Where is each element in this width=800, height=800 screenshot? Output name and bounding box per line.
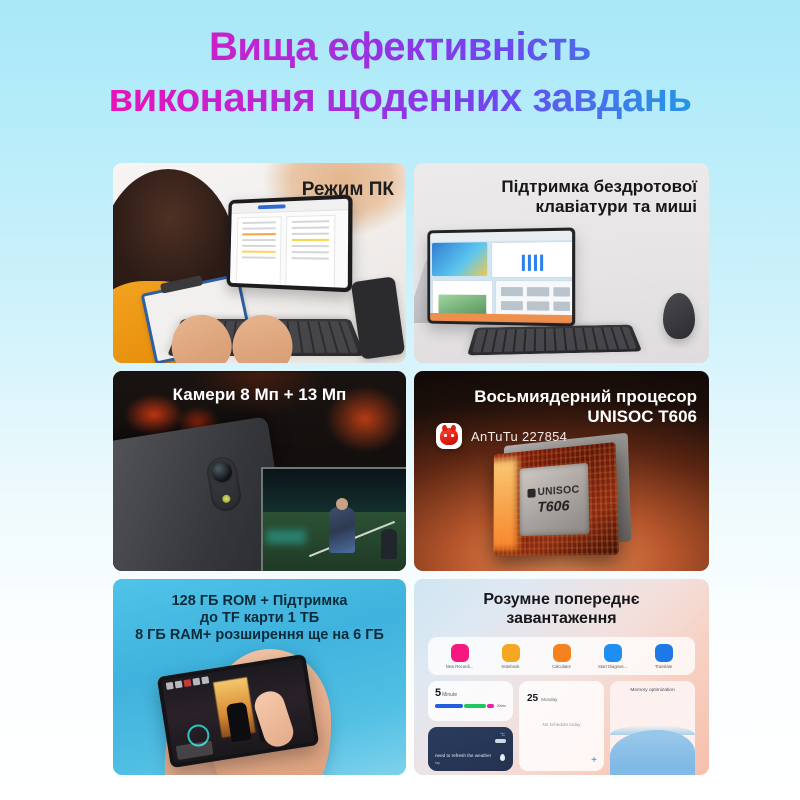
app-shortcut-label: Translate bbox=[655, 665, 672, 670]
app-shortcut-row: New Recordi... Notebook Calculator Start… bbox=[428, 637, 695, 675]
chip-illustration: UNISOC T606 bbox=[493, 441, 627, 560]
card-preload-title-line-2: завантаження bbox=[414, 610, 709, 629]
card-processor-title-line-1: Восьмиядерний процесор bbox=[474, 387, 697, 406]
card-memory-title-line-3: 8 ГБ RAM+ розширення ще на 6 ГБ bbox=[123, 627, 396, 644]
widget-column-left: 5Minute 20min °C need to refresh the wea… bbox=[428, 681, 513, 775]
app-shortcut[interactable]: Translate bbox=[641, 644, 687, 670]
app-shortcut[interactable]: Notebook bbox=[488, 644, 534, 670]
widget-calendar[interactable]: 25Monday No schedule today + bbox=[519, 681, 604, 771]
translate-icon bbox=[655, 644, 673, 662]
page-title-line-1: Вища ефективність bbox=[0, 24, 800, 71]
page-title-line-2: виконання щоденних завдань bbox=[0, 75, 800, 122]
start-diagnosis-icon bbox=[604, 644, 622, 662]
page-title: Вища ефективність виконання щоденних зав… bbox=[0, 24, 800, 122]
widget-weather-degree: °C bbox=[500, 732, 505, 737]
cloud-icon bbox=[495, 739, 506, 743]
widget-weather-message: need to refresh the weather bbox=[435, 753, 491, 758]
widget-weather[interactable]: °C need to refresh the weather tap bbox=[428, 727, 513, 771]
widget-calendar-weekday: Monday bbox=[541, 697, 557, 702]
game-screen bbox=[161, 658, 314, 763]
card-pc-mode-title: Режим ПК bbox=[302, 179, 394, 201]
widget-memory-title: Memory optimization bbox=[610, 688, 695, 693]
card-processor[interactable]: UNISOC T606 AnTuTu 227854 Восьмиядерний … bbox=[414, 371, 709, 571]
camera-flash-icon bbox=[222, 494, 231, 503]
widget-timer-value: 5Minute bbox=[435, 687, 506, 699]
person-sitting bbox=[329, 507, 355, 553]
wireless-mouse bbox=[663, 293, 695, 339]
card-wireless-peripherals[interactable]: Підтримка бездротової клавіатури та миші bbox=[414, 163, 709, 363]
camera-lens-icon bbox=[211, 461, 234, 484]
antutu-score-label: AnTuTu 227854 bbox=[471, 429, 567, 444]
card-pc-mode[interactable]: Режим ПК bbox=[113, 163, 406, 363]
widget-memory-optimization[interactable]: Memory optimization Available 3.4 GB/6.0… bbox=[610, 681, 695, 775]
game-hud bbox=[166, 676, 210, 690]
home-screen-mockup: New Recordi... Notebook Calculator Start… bbox=[428, 637, 695, 775]
location-pin-icon bbox=[500, 754, 505, 761]
tablet-device bbox=[427, 227, 575, 326]
widget-calendar-empty: No schedule today bbox=[519, 722, 604, 727]
card-wireless-title-line-2: клавіатури та миші bbox=[535, 197, 697, 216]
app-shortcut[interactable]: Calculator bbox=[539, 644, 585, 670]
card-memory[interactable]: 128 ГБ ROM + Підтримка до TF карти 1 ТБ … bbox=[113, 579, 406, 775]
calculator-icon bbox=[553, 644, 571, 662]
screen-hero-image bbox=[432, 242, 487, 276]
background-figure bbox=[381, 529, 397, 559]
card-processor-title-line-2: UNISOC T606 bbox=[428, 407, 697, 427]
sample-photo bbox=[261, 467, 406, 571]
screen-dock bbox=[430, 313, 572, 323]
app-shortcut-label: Start Diagnos... bbox=[598, 665, 627, 670]
card-preload-title: Розумне попереднє завантаження bbox=[414, 591, 709, 629]
widget-row: 5Minute 20min °C need to refresh the wea… bbox=[428, 681, 695, 775]
widget-calendar-header: 25Monday bbox=[527, 688, 596, 706]
card-cameras-title: Камери 8 Мп + 13 Мп bbox=[113, 385, 406, 405]
card-cameras[interactable]: Камери 8 Мп + 13 Мп bbox=[113, 371, 406, 571]
app-shortcut-label: New Recordi... bbox=[446, 665, 473, 670]
tablet-screen bbox=[430, 231, 572, 324]
wireless-keyboard bbox=[467, 325, 642, 356]
tablet-screen bbox=[230, 199, 348, 288]
document-page-right bbox=[286, 216, 334, 288]
card-memory-title: 128 ГБ ROM + Підтримка до TF карти 1 ТБ … bbox=[123, 593, 396, 644]
widget-timer-bar: 20min bbox=[435, 704, 506, 708]
new-record-icon bbox=[451, 644, 469, 662]
widget-column-middle: 25Monday No schedule today + bbox=[519, 681, 604, 775]
chip-model-label: T606 bbox=[537, 497, 569, 516]
card-memory-title-line-1: 128 ГБ ROM + Підтримка bbox=[123, 593, 396, 610]
widget-column-right: Memory optimization Available 3.4 GB/6.0… bbox=[610, 681, 695, 775]
memory-wave-graphic bbox=[610, 730, 695, 775]
app-shortcut-label: Calculator bbox=[552, 665, 571, 670]
chip-brand-label: UNISOC bbox=[528, 484, 580, 499]
card-wireless-title: Підтримка бездротової клавіатури та миші bbox=[501, 177, 697, 217]
document-page-left bbox=[237, 217, 281, 287]
hero-title-block: Вища ефективність виконання щоденних зав… bbox=[0, 0, 800, 122]
feature-card-grid: Режим ПК Підтримка бездротової клавіатур… bbox=[113, 163, 701, 775]
chip-die: UNISOC T606 bbox=[519, 463, 589, 536]
card-preload-title-line-1: Розумне попереднє bbox=[414, 591, 709, 610]
card-memory-title-line-2: до TF карти 1 ТБ bbox=[123, 610, 396, 627]
widget-timer-seg-label: 20min bbox=[497, 704, 506, 708]
app-shortcut-label: Notebook bbox=[502, 665, 520, 670]
widget-calendar-day: 25 bbox=[527, 693, 538, 704]
app-shortcut[interactable]: New Recordi... bbox=[437, 644, 483, 670]
notebook-icon bbox=[502, 644, 520, 662]
widget-weather-sub: tap bbox=[435, 761, 440, 765]
app-shortcut[interactable]: Start Diagnos... bbox=[590, 644, 636, 670]
screen-window-chart bbox=[491, 241, 572, 278]
card-wireless-title-line-1: Підтримка бездротової bbox=[501, 177, 697, 196]
widget-timer[interactable]: 5Minute 20min bbox=[428, 681, 513, 721]
add-event-button[interactable]: + bbox=[591, 756, 597, 766]
card-processor-title: Восьмиядерний процесор UNISOC T606 bbox=[428, 387, 697, 427]
tablet-device bbox=[226, 194, 352, 292]
card-preload[interactable]: Розумне попереднє завантаження New Recor… bbox=[414, 579, 709, 775]
